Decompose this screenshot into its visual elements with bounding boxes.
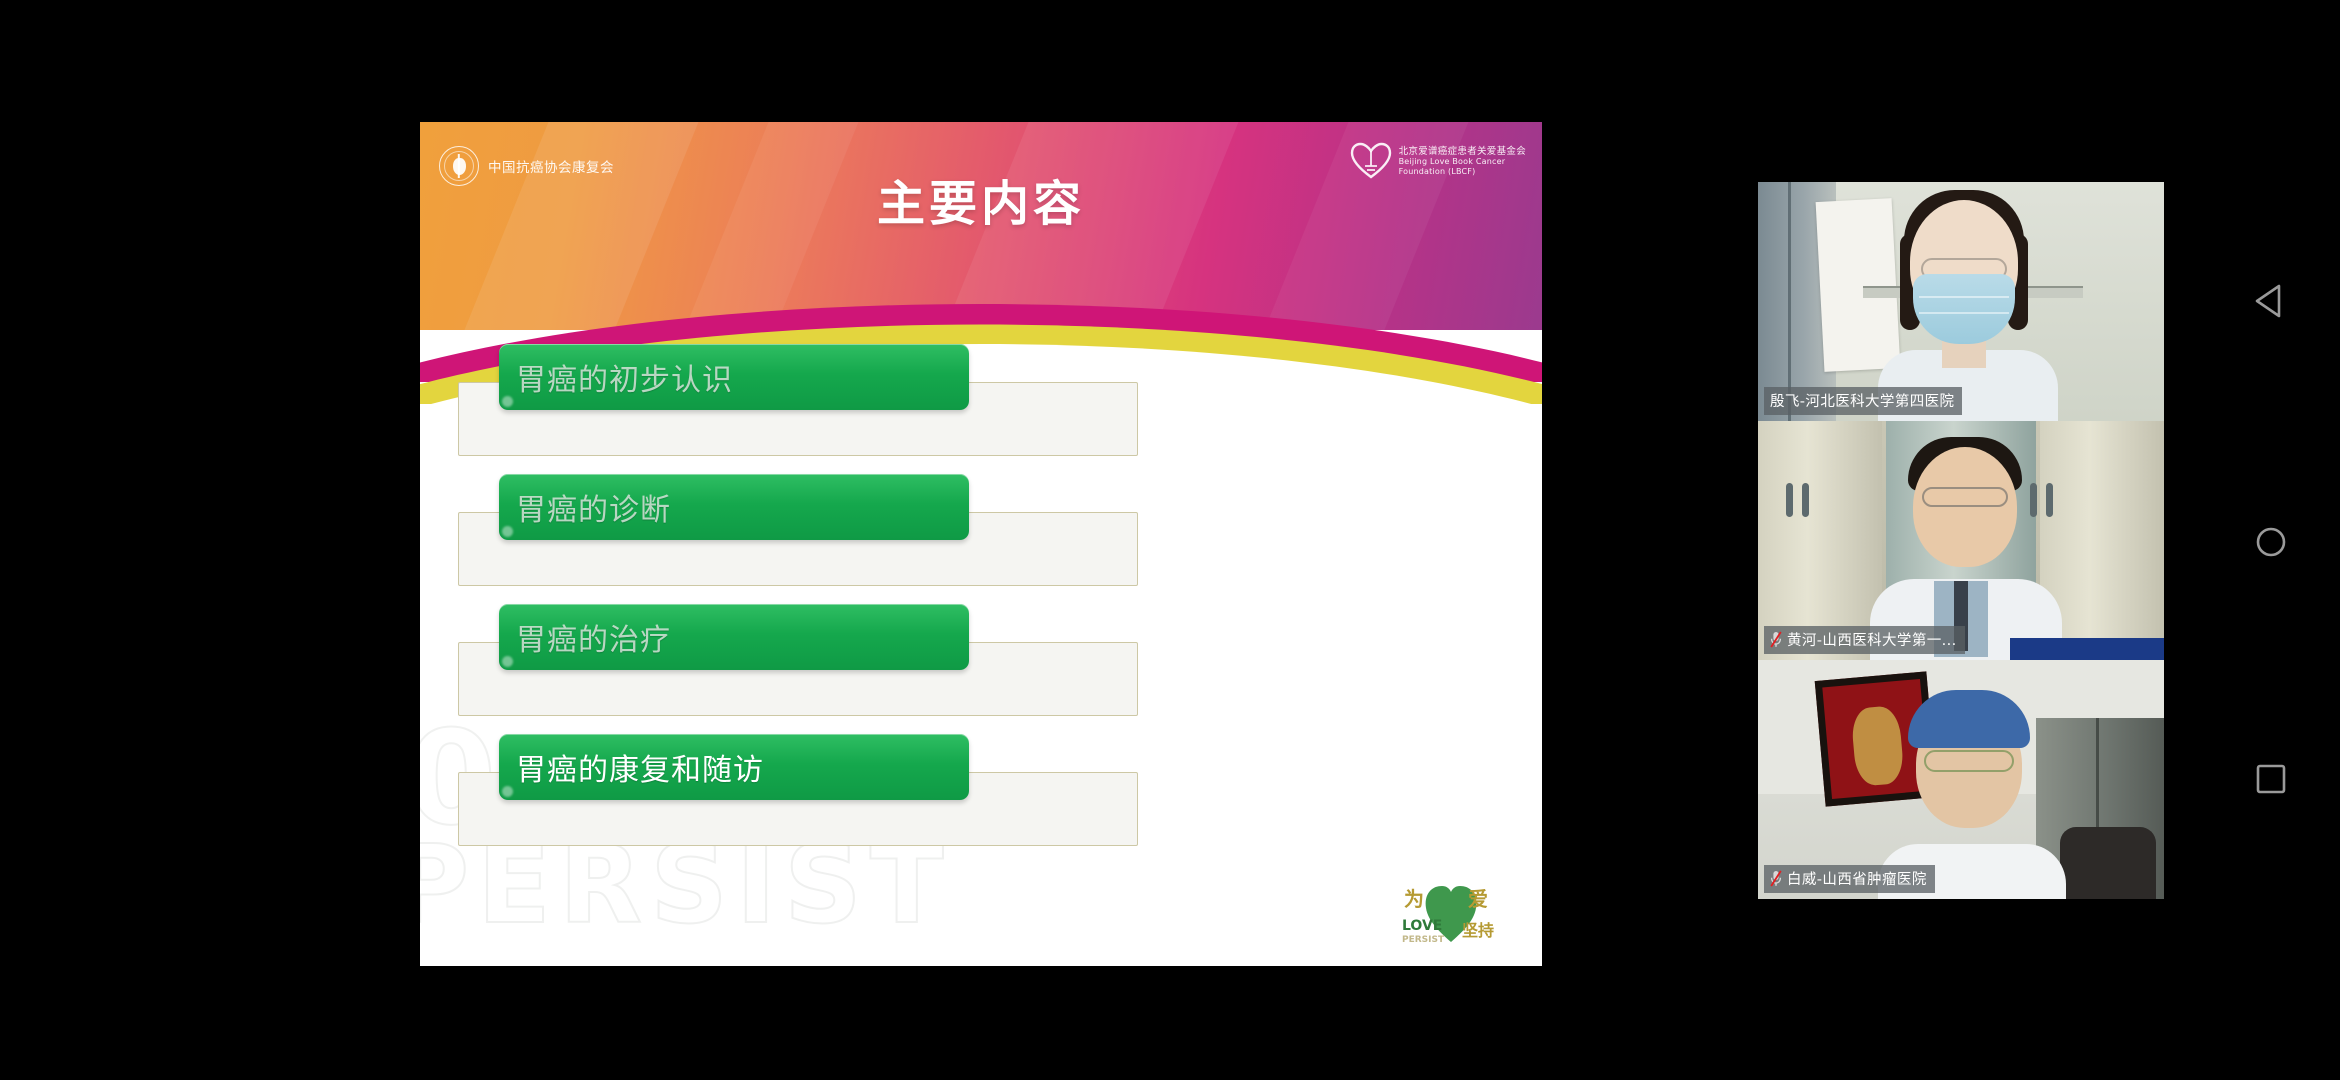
video-feed — [1758, 660, 2164, 899]
video-tile[interactable]: 黄河-山西医科大学第一... — [1758, 421, 2164, 660]
item-bar[interactable]: 胃癌的初步认识 — [499, 344, 969, 410]
participant-name-badge: 黄河-山西医科大学第一... — [1764, 626, 1965, 654]
item-label: 胃癌的初步认识 — [499, 355, 733, 399]
svg-text:爱: 爱 — [1468, 887, 1488, 911]
video-participants-panel[interactable]: 殷飞-河北医科大学第四医院 黄河 — [1758, 182, 2164, 900]
recents-button[interactable] — [2248, 756, 2294, 802]
item-bar[interactable]: 胃癌的康复和随访 — [499, 734, 969, 800]
android-navigation-bar — [2164, 0, 2340, 1080]
mic-muted-icon — [1770, 631, 1782, 648]
list-item[interactable]: 胃癌的初步认识 — [420, 340, 1542, 470]
participant-name: 殷飞-河北医科大学第四医院 — [1770, 390, 1954, 411]
mic-muted-icon — [1770, 870, 1782, 887]
recents-square-icon — [2248, 756, 2294, 802]
home-button[interactable] — [2248, 519, 2294, 565]
love-persist-logo: 为 爱 LOVE PERSIST 坚持 — [1396, 880, 1506, 948]
svg-text:为: 为 — [1404, 887, 1424, 911]
home-circle-icon — [2248, 519, 2294, 565]
item-label: 胃癌的康复和随访 — [499, 745, 764, 789]
item-bar[interactable]: 胃癌的诊断 — [499, 474, 969, 540]
list-item[interactable]: 胃癌的康复和随访 — [420, 730, 1542, 860]
video-feed — [1758, 421, 2164, 660]
back-button[interactable] — [2248, 278, 2294, 324]
item-label: 胃癌的诊断 — [499, 485, 671, 529]
screen-root: 中国抗癌协会康复会 北京爱谱癌症患者关爱基金会 Beijing Love Boo… — [0, 0, 2340, 1080]
list-item[interactable]: 胃癌的诊断 — [420, 470, 1542, 600]
lbcf-label-cn: 北京爱谱癌症患者关爱基金会 — [1399, 146, 1526, 157]
back-triangle-icon — [2248, 278, 2294, 324]
slide-content-list: 胃癌的初步认识 胃癌的诊断 胃癌的治疗 胃癌的康复和随访 — [420, 340, 1542, 860]
participant-name-badge: 殷飞-河北医科大学第四医院 — [1764, 387, 1962, 415]
participant-name: 黄河-山西医科大学第一... — [1787, 629, 1957, 650]
item-bar[interactable]: 胃癌的治疗 — [499, 604, 969, 670]
participant-name: 白威-山西省肿瘤医院 — [1787, 868, 1927, 889]
video-feed — [1758, 182, 2164, 421]
slide-title: 主要内容 — [420, 164, 1542, 234]
svg-text:PERSIST: PERSIST — [1402, 935, 1445, 945]
video-tile[interactable]: 白威-山西省肿瘤医院 — [1758, 660, 2164, 899]
participant-name-badge: 白威-山西省肿瘤医院 — [1764, 865, 1935, 893]
shared-slide[interactable]: 中国抗癌协会康复会 北京爱谱癌症患者关爱基金会 Beijing Love Boo… — [420, 122, 1542, 966]
item-label: 胃癌的治疗 — [499, 615, 671, 659]
list-item[interactable]: 胃癌的治疗 — [420, 600, 1542, 730]
svg-text:坚持: 坚持 — [1462, 921, 1494, 940]
video-tile[interactable]: 殷飞-河北医科大学第四医院 — [1758, 182, 2164, 421]
svg-text:LOVE: LOVE — [1402, 918, 1442, 934]
